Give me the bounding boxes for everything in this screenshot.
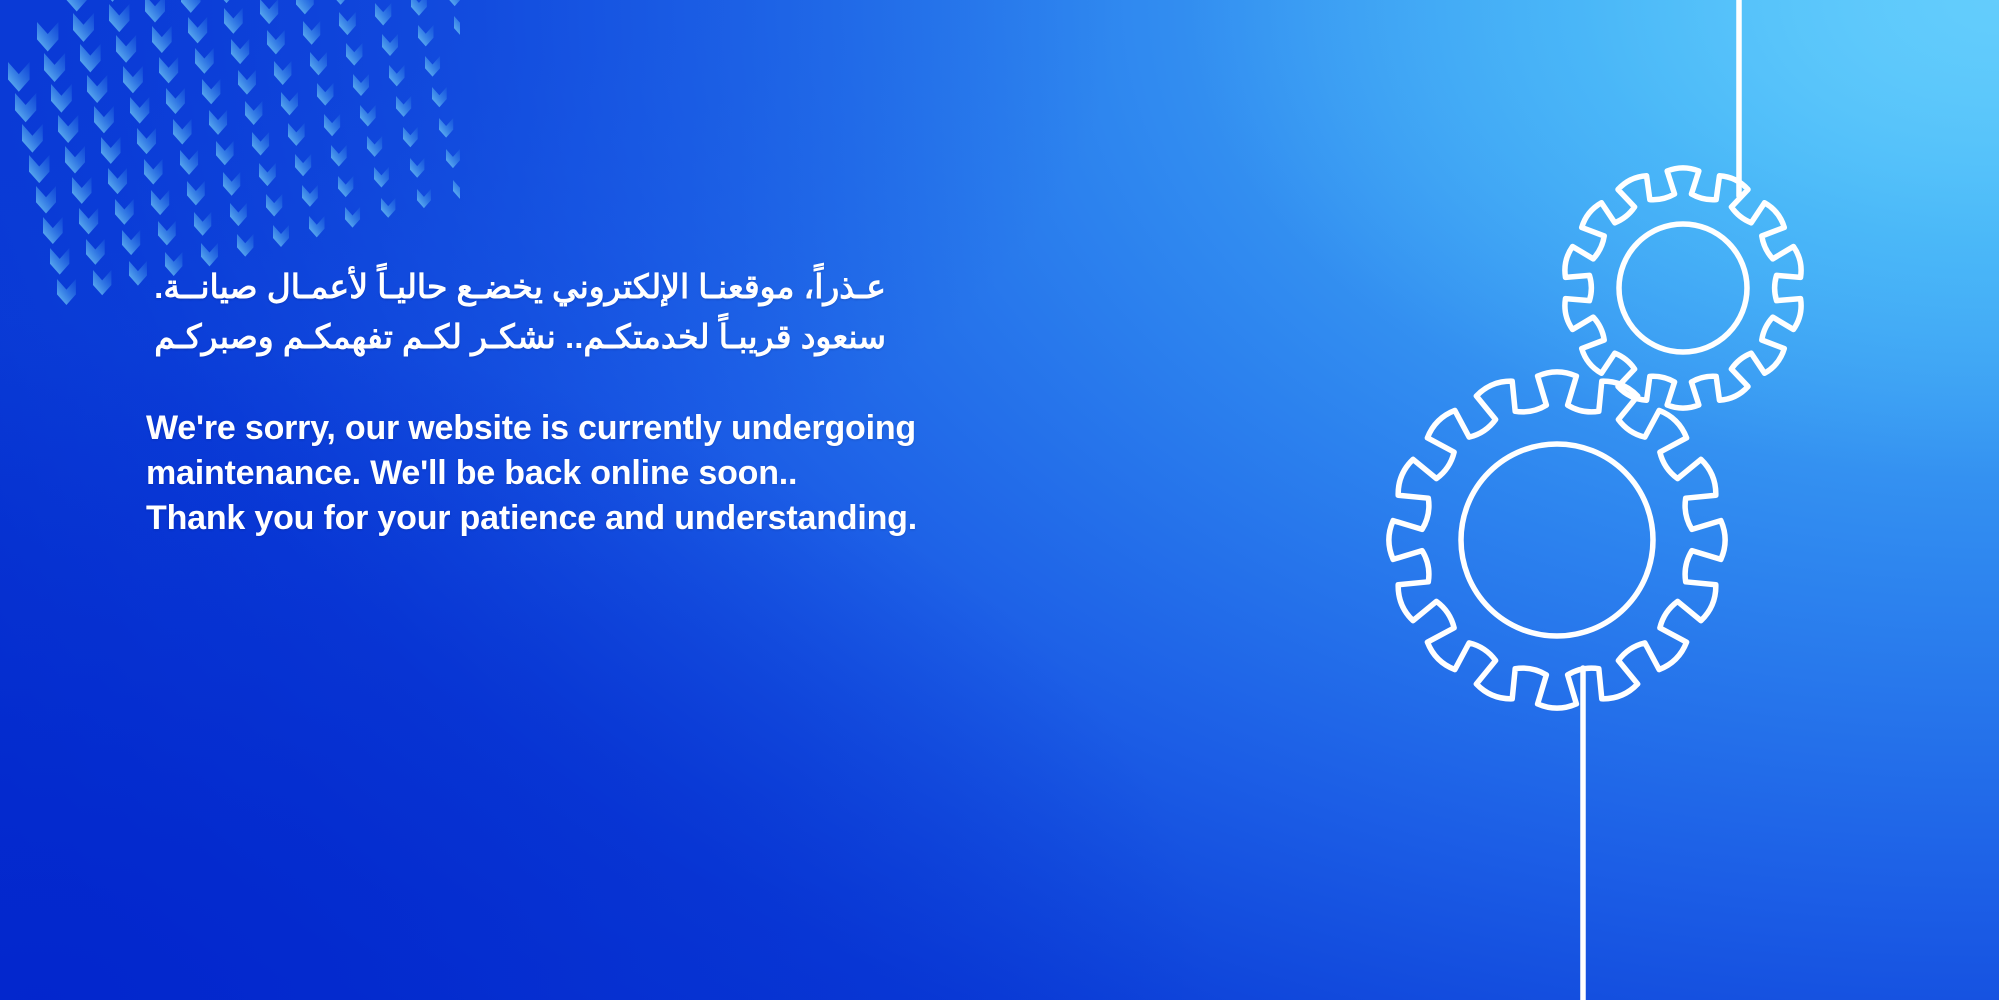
gear-large-outline [1389, 372, 1725, 708]
maintenance-page: عـذراً، موقعنـا الإلكتروني يخضـع حاليـاً… [0, 0, 1999, 1000]
gear-small-outline [1565, 168, 1801, 408]
arabic-line-1: عـذراً، موقعنـا الإلكتروني يخضـع حاليـاً… [146, 262, 886, 312]
english-line-2: maintenance. We'll be back online soon.. [146, 451, 1146, 496]
arabic-message: عـذراً، موقعنـا الإلكتروني يخضـع حاليـاً… [146, 262, 886, 362]
english-message: We're sorry, our website is currently un… [146, 406, 1146, 541]
english-line-3: Thank you for your patience and understa… [146, 496, 1146, 541]
gear-illustration [1179, 0, 1999, 1000]
gear-large-hub [1461, 444, 1653, 636]
gear-small-hub [1619, 224, 1747, 352]
gear-large-bottom-icon [1389, 372, 1725, 708]
message-block: عـذراً، موقعنـا الإلكتروني يخضـع حاليـاً… [146, 262, 1146, 541]
gear-small-top-icon [1565, 168, 1801, 408]
english-line-1: We're sorry, our website is currently un… [146, 406, 1146, 451]
arabic-line-2: سنعود قريبـاً لخدمتكـم.. نشكـر لكـم تفهم… [146, 312, 886, 362]
